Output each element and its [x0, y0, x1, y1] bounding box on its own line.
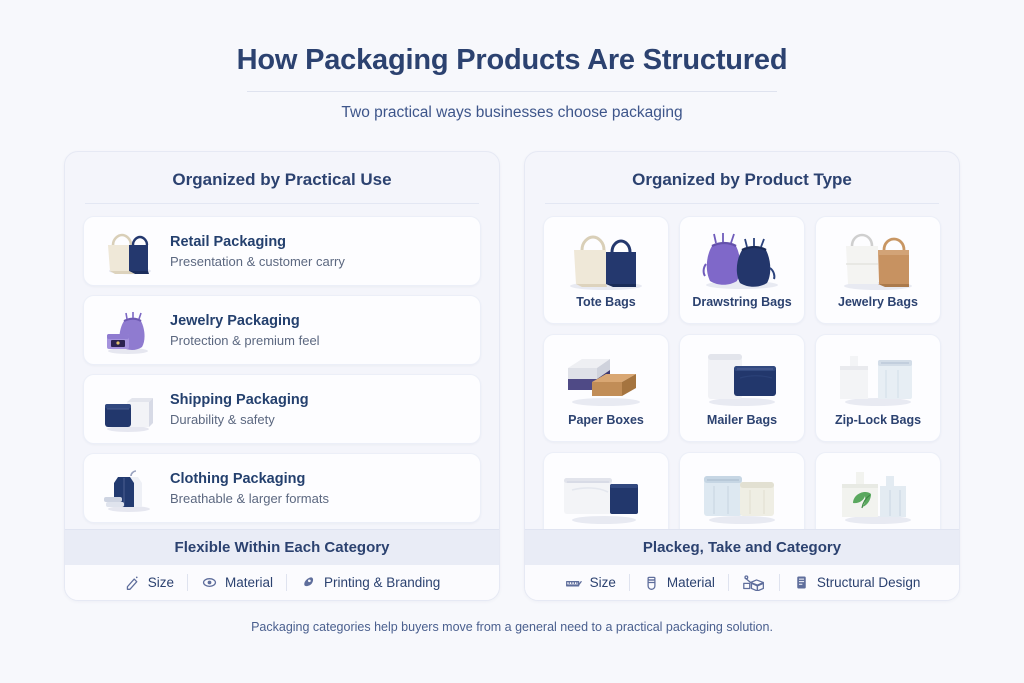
footer-chip-label: Size [590, 575, 616, 590]
jewelry-pouch-art [100, 304, 156, 356]
panel-product-type: Organized by Product Type Tote Bags [524, 151, 960, 601]
product-tile-label: Tote Bags [576, 295, 636, 309]
use-row-desc: Breathable & larger formats [170, 491, 329, 506]
footer-chip[interactable] [728, 574, 779, 591]
paper-boxes-art [554, 344, 658, 410]
footer-chip-label: Material [225, 575, 273, 590]
use-row-text: Shipping Packaging Durability & safety [170, 392, 309, 427]
right-panel-footer: Plackeg, Take and Category SizeMaterialS… [525, 529, 959, 600]
left-footer-chips: SizeMaterialPrinting & Branding [65, 565, 499, 600]
poly-mailer-art [554, 462, 658, 528]
left-panel-footer: Flexible Within Each Category SizeMateri… [65, 529, 499, 600]
right-footer-chips: SizeMaterialStructural Design [525, 565, 959, 600]
product-tile[interactable]: Tote Bags [543, 216, 669, 324]
use-row[interactable]: Shipping Packaging Durability & safety [83, 374, 481, 444]
mailer-pair-art [690, 344, 794, 410]
product-tile-label: Paper Boxes [568, 413, 644, 427]
ziplock-pair-art [826, 344, 930, 410]
footer-chip[interactable]: Printing & Branding [286, 574, 453, 591]
pencil-tag-icon [124, 574, 141, 591]
page-caption: Packaging categories help buyers move fr… [0, 620, 1024, 634]
page-title: How Packaging Products Are Structured [0, 44, 1024, 77]
page-subtitle: Two practical ways businesses choose pac… [0, 104, 1024, 122]
use-row-text: Retail Packaging Presentation & customer… [170, 234, 345, 269]
tote-pair-art [554, 226, 658, 292]
swatch-eye-icon [201, 574, 218, 591]
panels-container: Organized by Practical Use Retail Packag… [0, 122, 1024, 601]
left-panel-title: Organized by Practical Use [65, 152, 499, 203]
use-row-title: Retail Packaging [170, 234, 345, 250]
garment-bag-art [100, 462, 156, 514]
footer-chip-label: Material [667, 575, 715, 590]
drawstring-pair-art [690, 226, 794, 292]
footer-chip[interactable]: Material [629, 574, 728, 591]
product-tile-label: Drawstring Bags [692, 295, 791, 309]
footer-chip[interactable]: Size [551, 574, 629, 591]
standup-pouch-art [690, 462, 794, 528]
title-divider [247, 91, 777, 92]
product-tile-label: Jewelry Bags [838, 295, 918, 309]
product-tile[interactable]: Zip-Lock Bags [815, 334, 941, 442]
right-footer-title: Plackeg, Take and Category [525, 529, 959, 565]
box-cut-icon [742, 574, 766, 591]
document-box-icon [793, 574, 810, 591]
right-panel-title: Organized by Product Type [525, 152, 959, 203]
use-row-desc: Presentation & customer carry [170, 254, 345, 269]
use-row-desc: Durability & safety [170, 412, 309, 427]
footer-chip-label: Printing & Branding [324, 575, 440, 590]
product-tile-label: Mailer Bags [707, 413, 777, 427]
footer-chip-label: Structural Design [817, 575, 921, 590]
product-tile[interactable]: Jewelry Bags [815, 216, 941, 324]
use-row-title: Clothing Packaging [170, 471, 329, 487]
use-row[interactable]: Clothing Packaging Breathable & larger f… [83, 453, 481, 523]
use-row[interactable]: Jewelry Packaging Protection & premium f… [83, 295, 481, 365]
use-row-desc: Protection & premium feel [170, 333, 320, 348]
product-tile-label: Zip-Lock Bags [835, 413, 921, 427]
footer-chip[interactable]: Size [111, 574, 187, 591]
jar-icon [643, 574, 660, 591]
eco-bag-art [826, 462, 930, 528]
product-tile[interactable]: Mailer Bags [679, 334, 805, 442]
use-row-text: Clothing Packaging Breathable & larger f… [170, 471, 329, 506]
use-row-title: Jewelry Packaging [170, 313, 320, 329]
use-row-title: Shipping Packaging [170, 392, 309, 408]
footer-chip[interactable]: Structural Design [779, 574, 934, 591]
page-header: How Packaging Products Are Structured Tw… [0, 0, 1024, 122]
use-row-text: Jewelry Packaging Protection & premium f… [170, 313, 320, 348]
paper-handle-bag-art [826, 226, 930, 292]
footer-chip[interactable]: Material [187, 574, 286, 591]
product-tile[interactable]: Drawstring Bags [679, 216, 805, 324]
footer-chip-label: Size [148, 575, 174, 590]
mailer-box-art [100, 383, 156, 435]
product-grid: Tote Bags Drawstring Bags [543, 216, 941, 560]
panel-practical-use: Organized by Practical Use Retail Packag… [64, 151, 500, 601]
use-row[interactable]: Retail Packaging Presentation & customer… [83, 216, 481, 286]
ruler-icon [564, 574, 583, 591]
tote-bag-art [100, 225, 156, 277]
product-tile[interactable]: Paper Boxes [543, 334, 669, 442]
left-footer-title: Flexible Within Each Category [65, 529, 499, 565]
ink-drop-icon [300, 574, 317, 591]
